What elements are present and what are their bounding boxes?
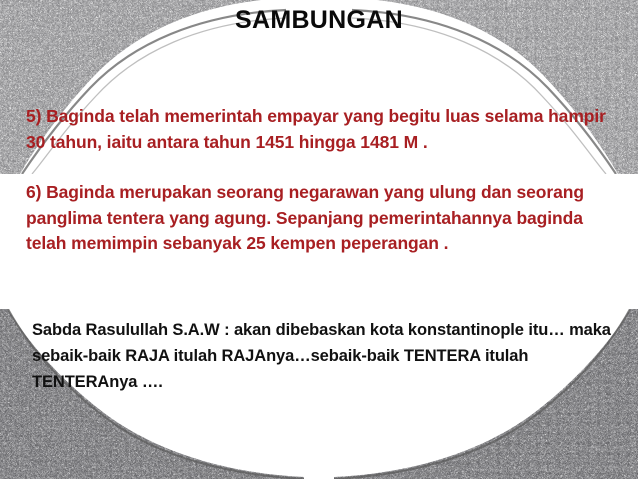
body-paragraph-6: 6) Baginda merupakan seorang negarawan y… (26, 180, 626, 257)
slide-body: 5) Baginda telah memerintah empayar yang… (26, 104, 626, 257)
slide-canvas: SAMBUNGAN 5) Baginda telah memerintah em… (0, 0, 638, 479)
body-paragraph-5: 5) Baginda telah memerintah empayar yang… (26, 104, 626, 155)
slide-title: SAMBUNGAN (0, 6, 638, 35)
hadith-quote-text: Sabda Rasulullah S.A.W : akan dibebaskan… (32, 317, 626, 395)
hadith-quote-block: Sabda Rasulullah S.A.W : akan dibebaskan… (32, 317, 626, 395)
